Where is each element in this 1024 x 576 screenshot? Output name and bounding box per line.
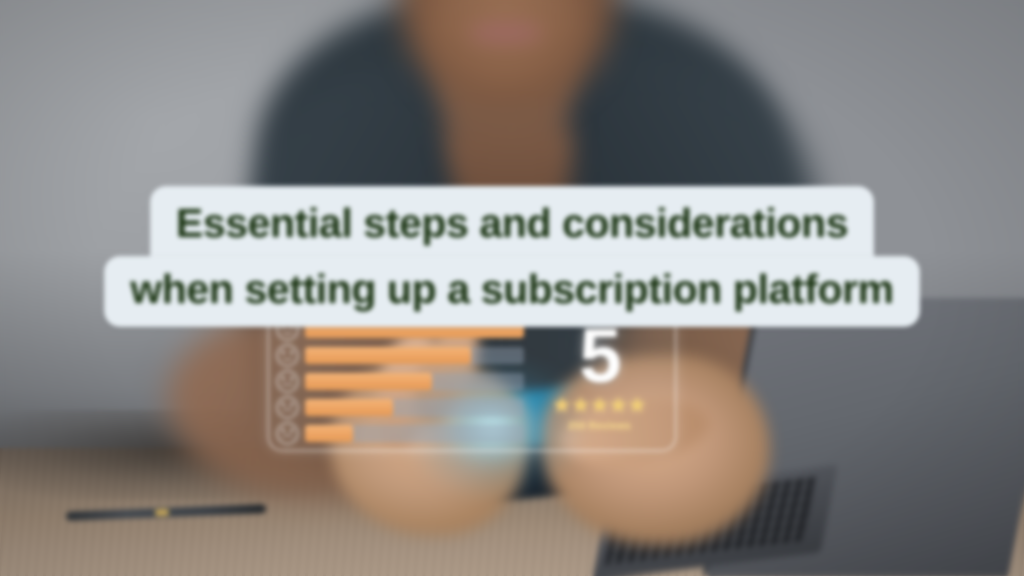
- pen-clip: [155, 509, 169, 517]
- banner-image: 5 ★★★★★ 250 Reviews Essential steps and …: [0, 0, 1024, 576]
- rating-bar-track: [305, 321, 524, 338]
- rating-bar-fill: [305, 347, 471, 364]
- rating-bar-fill: [305, 321, 524, 338]
- rating-score-panel: 5 ★★★★★ 250 Reviews: [524, 312, 675, 450]
- sad-face-icon: [277, 397, 298, 418]
- rating-widget: 5 ★★★★★ 250 Reviews: [268, 311, 676, 451]
- rating-bar-fill: [305, 399, 393, 416]
- rating-bar-track: [305, 399, 524, 416]
- neutral-face-icon: [277, 371, 298, 392]
- rating-score-value: 5: [579, 326, 619, 388]
- rating-row: [277, 344, 524, 366]
- happy-face-icon: [277, 345, 298, 366]
- very-sad-face-icon: [277, 423, 298, 444]
- rating-row: [277, 396, 524, 418]
- rating-row: [277, 422, 524, 444]
- rating-bar-track: [305, 425, 524, 442]
- rating-distribution-list: [269, 312, 524, 450]
- rating-row: [277, 318, 524, 340]
- person-lips: [470, 22, 542, 44]
- star-rating-icons: ★★★★★: [552, 395, 646, 416]
- background-photo: [0, 0, 1024, 576]
- very-happy-face-icon: [277, 319, 298, 340]
- rating-bar-track: [305, 373, 524, 390]
- reviews-count-label: 250 Reviews: [568, 421, 631, 432]
- rating-bar-fill: [305, 425, 353, 442]
- rating-bar-fill: [305, 373, 432, 390]
- rating-row: [277, 370, 524, 392]
- rating-bar-track: [305, 347, 524, 364]
